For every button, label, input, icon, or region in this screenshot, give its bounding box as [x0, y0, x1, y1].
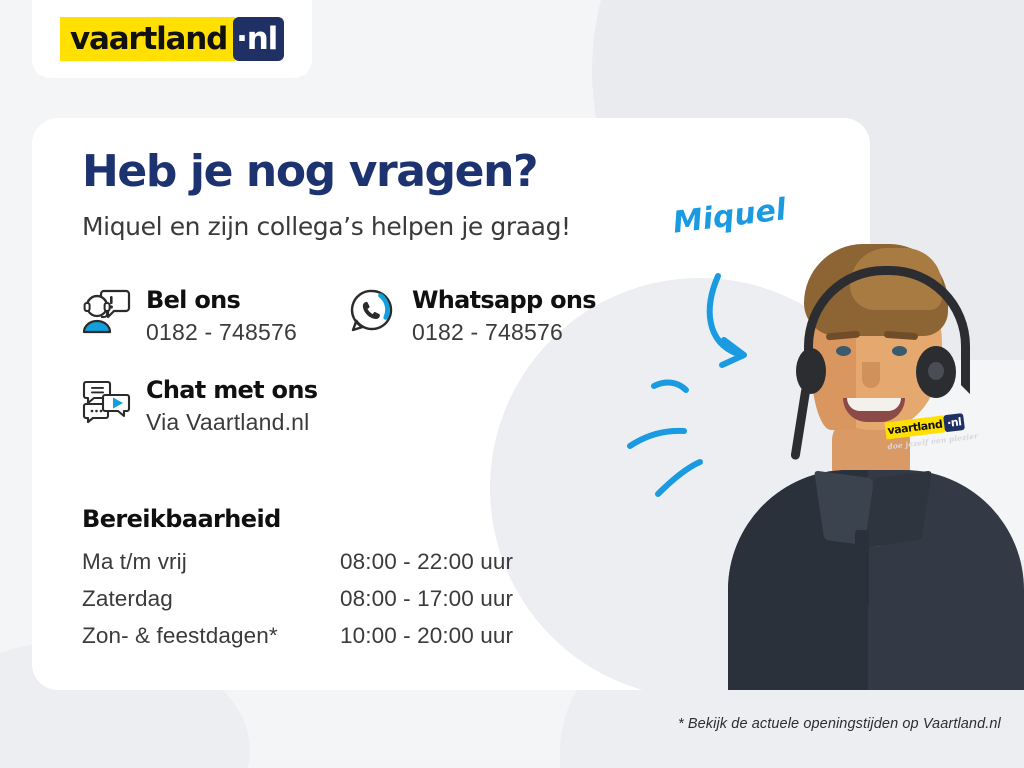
footnote-text: * Bekijk de actuele openingstijden op Va…	[678, 716, 1001, 732]
contact-title-call: Bel ons	[146, 287, 297, 315]
contact-item-chat[interactable]: Chat met ons Via Vaartland.nl	[80, 375, 317, 438]
logo-main-text: vaartland	[70, 24, 227, 55]
agent-collar-right	[864, 470, 932, 547]
table-row: Ma t/m vrij 08:00 - 22:00 uur	[82, 548, 513, 585]
contact-title-chat: Chat met ons	[146, 377, 317, 405]
agent-teeth	[847, 398, 901, 411]
hours-time-value: 10:00 - 20:00 uur	[340, 622, 513, 659]
hours-day-label: Ma t/m vrij	[82, 548, 340, 585]
hours-heading: Bereikbaarheid	[82, 505, 281, 533]
page-title: Heb je nog vragen?	[82, 150, 537, 194]
page-subtitle: Miquel en zijn collega’s helpen je graag…	[82, 212, 571, 242]
contact-item-whatsapp[interactable]: Whatsapp ons 0182 - 748576	[346, 285, 596, 348]
motion-lines-icon	[630, 383, 700, 494]
contact-value-whatsapp[interactable]: 0182 - 748576	[412, 317, 596, 348]
headset-person-icon	[80, 285, 132, 337]
hours-time-value: 08:00 - 17:00 uur	[340, 585, 513, 622]
logo-suffix-text: ·nl	[236, 24, 277, 55]
table-row: Zon- & feestdagen* 10:00 - 20:00 uur	[82, 622, 513, 659]
contact-title-whatsapp: Whatsapp ons	[412, 287, 596, 315]
headset-earcup-center	[928, 362, 944, 380]
whatsapp-icon	[346, 285, 398, 337]
contact-value-call[interactable]: 0182 - 748576	[146, 317, 297, 348]
table-row: Zaterdag 08:00 - 17:00 uur	[82, 585, 513, 622]
chat-bubbles-icon	[80, 375, 132, 427]
annotation-marks	[620, 250, 840, 500]
brand-logo-badge[interactable]: vaartland ·nl	[32, 0, 312, 78]
agent-placket	[855, 530, 869, 606]
vaartland-logo: vaartland ·nl	[60, 17, 284, 61]
contact-text-whatsapp: Whatsapp ons 0182 - 748576	[412, 285, 596, 348]
polo-logo-suffix-text: ·nl	[947, 416, 963, 429]
curved-arrow-icon	[710, 276, 744, 365]
hours-day-label: Zon- & feestdagen*	[82, 622, 340, 659]
polo-logo-navy-block: ·nl	[943, 413, 965, 432]
logo-navy-block: ·nl	[233, 17, 284, 61]
logo-yellow-block: vaartland	[60, 17, 235, 61]
contact-text-chat: Chat met ons Via Vaartland.nl	[146, 375, 317, 438]
opening-hours-table: Ma t/m vrij 08:00 - 22:00 uur Zaterdag 0…	[82, 548, 513, 659]
contact-item-call[interactable]: Bel ons 0182 - 748576	[80, 285, 297, 348]
hours-day-label: Zaterdag	[82, 585, 340, 622]
polo-logo-main-text: vaartland	[887, 419, 943, 437]
contact-value-chat[interactable]: Via Vaartland.nl	[146, 407, 317, 438]
hours-time-value: 08:00 - 22:00 uur	[340, 548, 513, 585]
contact-text-call: Bel ons 0182 - 748576	[146, 285, 297, 348]
